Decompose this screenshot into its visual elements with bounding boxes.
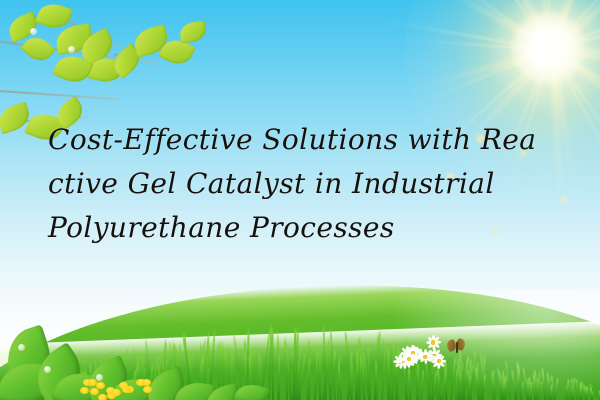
yellow-flower	[80, 387, 89, 394]
daisy-flower	[419, 350, 432, 363]
grass-blade	[408, 366, 411, 400]
butterfly	[447, 339, 467, 355]
grass-blade	[420, 368, 424, 400]
bokeh-sparkle	[560, 196, 568, 204]
dew-drop	[96, 374, 103, 381]
dew-drop	[18, 344, 25, 351]
grass-blade	[590, 387, 593, 400]
yellow-flower	[98, 394, 107, 400]
yellow-flower	[143, 386, 152, 393]
yellow-flower	[112, 389, 121, 396]
daisy-flower	[432, 355, 445, 368]
grass-blade	[417, 362, 419, 400]
grass-blade	[541, 367, 545, 400]
branch-twig	[0, 90, 120, 100]
grass-blade	[554, 377, 558, 400]
sun-core	[512, 12, 584, 84]
grass-blade	[351, 360, 353, 400]
yellow-flower	[122, 386, 131, 393]
grass-blade	[530, 381, 532, 400]
grass-blade	[540, 380, 542, 400]
butterfly-body	[456, 342, 458, 353]
dew-drop	[30, 28, 37, 35]
grass-blade	[492, 368, 495, 400]
grass-blade	[445, 358, 448, 400]
yellow-flower	[142, 379, 151, 386]
dew-drop	[44, 366, 51, 373]
daisy-flower	[427, 336, 440, 349]
yellow-flower	[90, 388, 99, 395]
leaf	[179, 21, 207, 44]
dew-drop	[68, 46, 75, 53]
daisy-flower	[402, 353, 415, 366]
nature-banner-image: Cost-Effective Solutions with Rea ctive …	[0, 0, 600, 400]
yellow-flower	[96, 382, 105, 389]
page-title: Cost-Effective Solutions with Rea ctive …	[48, 118, 558, 250]
